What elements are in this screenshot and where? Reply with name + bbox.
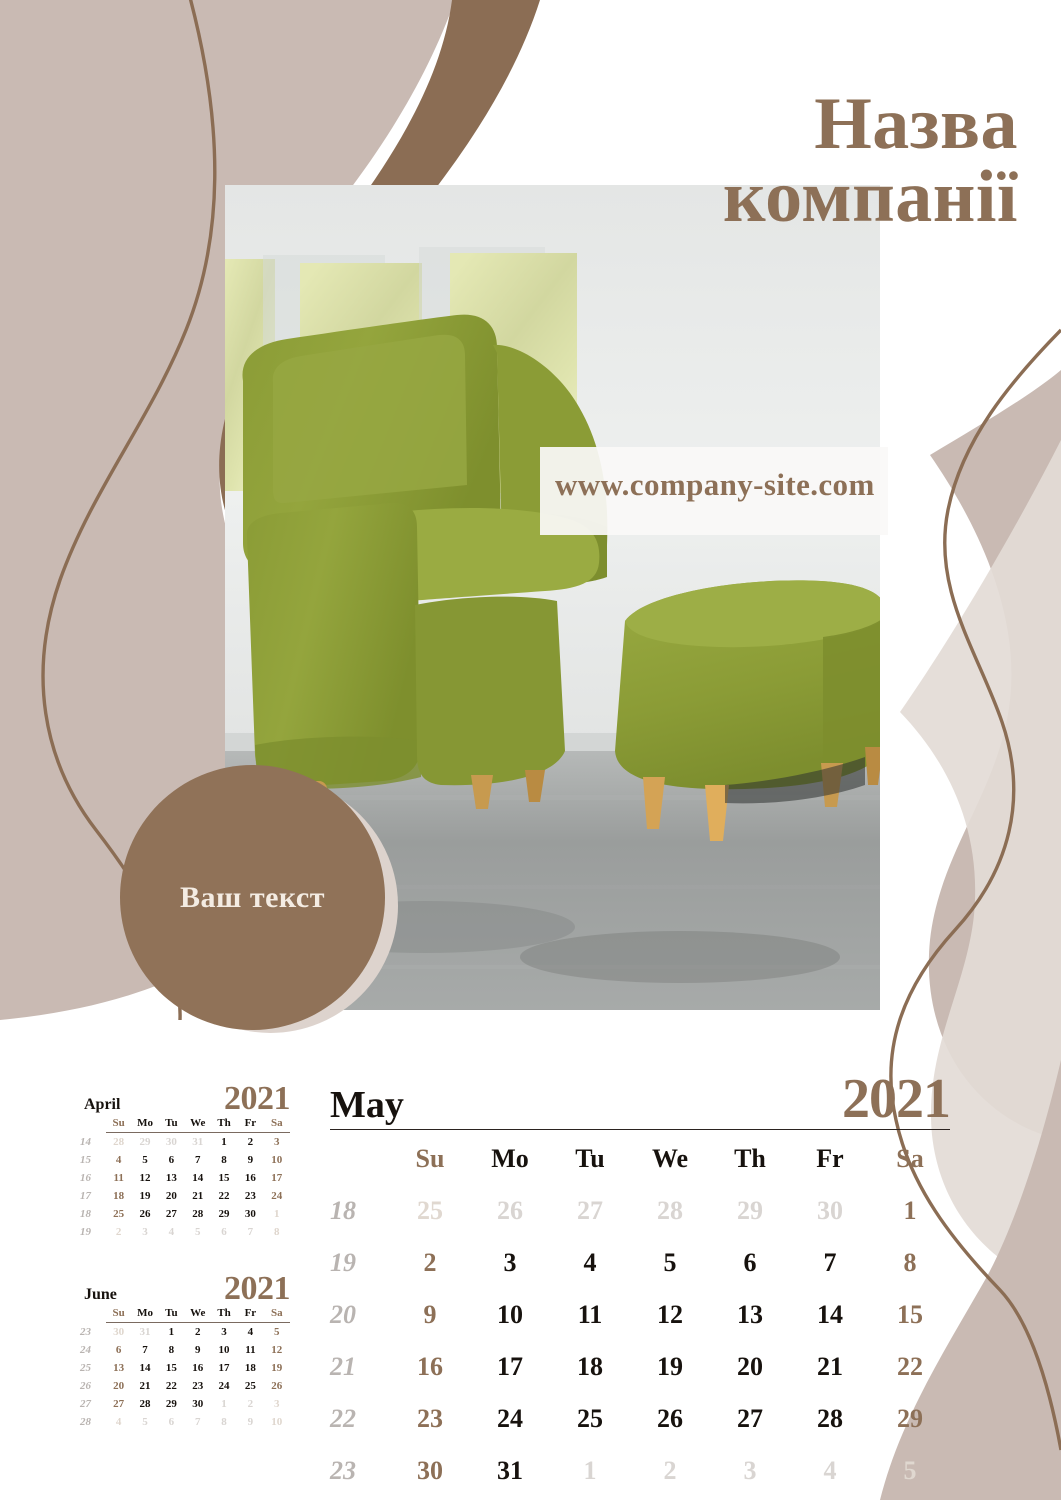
mini-week-number: 17: [78, 1187, 106, 1205]
mini-dow-tu: Tu: [158, 1304, 184, 1323]
mini-weeknum-header: [78, 1304, 106, 1323]
mini-day-cell[interactable]: 7: [132, 1341, 158, 1359]
mini-day-cell[interactable]: 6: [158, 1151, 184, 1169]
mini-day-cell[interactable]: 13: [158, 1169, 184, 1187]
mini-calendar-april: April 2021 Su Mo Tu We Th Fr Sa 14282930…: [78, 1078, 290, 1241]
main-day-cell[interactable]: 27: [550, 1185, 630, 1237]
mini-day-cell[interactable]: 25: [106, 1205, 132, 1223]
main-day-cell[interactable]: 9: [390, 1289, 470, 1341]
main-day-cell[interactable]: 4: [790, 1445, 870, 1497]
armchair: [236, 315, 608, 811]
main-day-cell[interactable]: 27: [710, 1393, 790, 1445]
mini-day-cell[interactable]: 31: [185, 1133, 211, 1152]
table-row: 2223242526272829: [330, 1393, 950, 1445]
mini-day-cell[interactable]: 2: [185, 1323, 211, 1342]
table-row: 209101112131415: [330, 1289, 950, 1341]
table-row: 2845678910: [78, 1413, 290, 1431]
mini-day-cell[interactable]: 30: [106, 1323, 132, 1342]
mini-year-june: 2021: [224, 1270, 290, 1308]
main-day-cell[interactable]: 10: [470, 1289, 550, 1341]
mini-day-cell[interactable]: 26: [264, 1377, 290, 1395]
mini-body-april: 1428293031123154567891016111213141516171…: [78, 1133, 290, 1242]
main-year: 2021: [842, 1067, 950, 1131]
main-day-cell[interactable]: 7: [790, 1237, 870, 1289]
mini-day-cell[interactable]: 23: [237, 1187, 263, 1205]
table-row: 182526272829301: [330, 1185, 950, 1237]
mini-weeknum-header: [78, 1114, 106, 1133]
mini-day-cell[interactable]: 10: [264, 1151, 290, 1169]
mini-day-cell[interactable]: 5: [264, 1323, 290, 1342]
mini-day-cell[interactable]: 4: [106, 1413, 132, 1431]
mini-day-cell[interactable]: 9: [237, 1413, 263, 1431]
mini-day-cell[interactable]: 1: [211, 1395, 237, 1413]
mini-day-cell[interactable]: 2: [237, 1395, 263, 1413]
main-dow-mo: Mo: [470, 1130, 550, 1186]
main-day-cell[interactable]: 31: [470, 1445, 550, 1497]
mini-day-cell[interactable]: 10: [211, 1341, 237, 1359]
table-row: 192345678: [330, 1237, 950, 1289]
main-week-number: 18: [330, 1185, 390, 1237]
mini-week-number: 25: [78, 1359, 106, 1377]
mini-calendar-june: June 2021 Su Mo Tu We Th Fr Sa 233031123…: [78, 1268, 290, 1431]
mini-day-cell[interactable]: 22: [211, 1187, 237, 1205]
mini-day-cell[interactable]: 15: [158, 1359, 184, 1377]
mini-day-cell[interactable]: 5: [132, 1413, 158, 1431]
mini-day-cell[interactable]: 17: [264, 1169, 290, 1187]
badge-label: Ваш текст: [180, 881, 325, 915]
mini-dow-we: We: [185, 1114, 211, 1133]
main-day-cell[interactable]: 5: [870, 1445, 950, 1497]
mini-day-cell[interactable]: 5: [185, 1223, 211, 1241]
mini-week-number: 28: [78, 1413, 106, 1431]
mini-day-cell[interactable]: 4: [106, 1151, 132, 1169]
mini-week-number: 26: [78, 1377, 106, 1395]
main-day-cell[interactable]: 25: [550, 1393, 630, 1445]
main-head-row: Su Mo Tu We Th Fr Sa: [330, 1130, 950, 1186]
mini-day-cell[interactable]: 30: [185, 1395, 211, 1413]
main-weeknum-header: [330, 1130, 390, 1186]
company-title-line1: Назва: [470, 88, 1018, 161]
mini-body-june: 2330311234524678910111225131415161718192…: [78, 1323, 290, 1432]
mini-day-cell[interactable]: 2: [237, 1133, 263, 1152]
mini-day-cell[interactable]: 28: [185, 1205, 211, 1223]
main-day-cell[interactable]: 19: [630, 1341, 710, 1393]
mini-day-cell[interactable]: 20: [106, 1377, 132, 1395]
main-day-cell[interactable]: 29: [870, 1393, 950, 1445]
mini-day-cell[interactable]: 9: [237, 1151, 263, 1169]
mini-day-cell[interactable]: 6: [211, 1223, 237, 1241]
table-row: 2727282930123: [78, 1395, 290, 1413]
main-day-cell[interactable]: 23: [390, 1393, 470, 1445]
table-row: 1545678910: [78, 1151, 290, 1169]
mini-day-cell[interactable]: 6: [158, 1413, 184, 1431]
main-day-cell[interactable]: 28: [790, 1393, 870, 1445]
table-row: 2620212223242526: [78, 1377, 290, 1395]
mini-day-cell[interactable]: 12: [264, 1341, 290, 1359]
mini-day-cell[interactable]: 29: [132, 1133, 158, 1152]
mini-month-name-june: June: [84, 1286, 117, 1304]
main-day-cell[interactable]: 24: [470, 1393, 550, 1445]
mini-day-cell[interactable]: 16: [185, 1359, 211, 1377]
mini-day-cell[interactable]: 11: [237, 1341, 263, 1359]
main-day-cell[interactable]: 13: [710, 1289, 790, 1341]
main-month-name: May: [330, 1083, 404, 1127]
main-day-cell[interactable]: 12: [630, 1289, 710, 1341]
mini-dow-su: Su: [106, 1114, 132, 1133]
mini-day-cell[interactable]: 17: [211, 1359, 237, 1377]
main-day-cell[interactable]: 20: [710, 1341, 790, 1393]
main-calendar-header: May 2021: [330, 1073, 950, 1129]
mini-week-number: 15: [78, 1151, 106, 1169]
main-day-cell[interactable]: 16: [390, 1341, 470, 1393]
website-url[interactable]: www.company-site.com: [555, 467, 1025, 503]
main-dow-fr: Fr: [790, 1130, 870, 1186]
mini-week-number: 14: [78, 1133, 106, 1152]
mini-day-cell[interactable]: 21: [132, 1377, 158, 1395]
main-week-number: 23: [330, 1445, 390, 1497]
mini-day-cell[interactable]: 25: [237, 1377, 263, 1395]
mini-day-cell[interactable]: 1: [211, 1133, 237, 1152]
main-day-cell[interactable]: 11: [550, 1289, 630, 1341]
mini-day-cell[interactable]: 30: [237, 1205, 263, 1223]
mini-dow-tu: Tu: [158, 1114, 184, 1133]
main-dow-we: We: [630, 1130, 710, 1186]
mini-day-cell[interactable]: 28: [132, 1395, 158, 1413]
mini-week-number: 18: [78, 1205, 106, 1223]
mini-dow-su: Su: [106, 1304, 132, 1323]
table-row: 246789101112: [78, 1341, 290, 1359]
mini-day-cell[interactable]: 27: [158, 1205, 184, 1223]
main-day-cell[interactable]: 2: [630, 1445, 710, 1497]
mini-day-cell[interactable]: 5: [132, 1151, 158, 1169]
main-day-cell[interactable]: 25: [390, 1185, 470, 1237]
company-title: Назва компанії: [470, 88, 1018, 235]
mini-day-cell[interactable]: 31: [132, 1323, 158, 1342]
mini-day-cell[interactable]: 18: [237, 1359, 263, 1377]
main-calendar-may: May 2021 Su Mo Tu We Th Fr Sa 1825262728…: [330, 1073, 950, 1497]
mini-grid-june: Su Mo Tu We Th Fr Sa 2330311234524678910…: [78, 1304, 290, 1431]
table-row: 1718192021222324: [78, 1187, 290, 1205]
mini-week-number: 23: [78, 1323, 106, 1342]
main-day-cell[interactable]: 30: [790, 1185, 870, 1237]
mini-day-cell[interactable]: 14: [185, 1169, 211, 1187]
main-day-cell[interactable]: 28: [630, 1185, 710, 1237]
company-title-line2: компанії: [470, 161, 1018, 234]
mini-day-cell[interactable]: 27: [106, 1395, 132, 1413]
mini-day-cell[interactable]: 28: [106, 1133, 132, 1152]
mini-day-cell[interactable]: 4: [237, 1323, 263, 1342]
mini-week-number: 27: [78, 1395, 106, 1413]
mini-day-cell[interactable]: 29: [158, 1395, 184, 1413]
mini-day-cell[interactable]: 8: [158, 1341, 184, 1359]
mini-header-june: June 2021: [78, 1268, 290, 1304]
main-day-cell[interactable]: 3: [470, 1237, 550, 1289]
main-day-cell[interactable]: 29: [710, 1185, 790, 1237]
mini-header-april: April 2021: [78, 1078, 290, 1114]
table-row: 1611121314151617: [78, 1169, 290, 1187]
calendar-page: Назва компанії www.company-site.com Ваш …: [0, 0, 1061, 1500]
table-row: 1428293031123: [78, 1133, 290, 1152]
mini-day-cell[interactable]: 6: [106, 1341, 132, 1359]
table-row: 23303112345: [78, 1323, 290, 1342]
mini-day-cell[interactable]: 8: [211, 1151, 237, 1169]
main-week-number: 19: [330, 1237, 390, 1289]
mini-year-april: 2021: [224, 1080, 290, 1118]
mini-week-number: 19: [78, 1223, 106, 1241]
main-day-cell[interactable]: 18: [550, 1341, 630, 1393]
main-day-cell[interactable]: 17: [470, 1341, 550, 1393]
mini-week-number: 24: [78, 1341, 106, 1359]
main-day-cell[interactable]: 14: [790, 1289, 870, 1341]
main-week-number: 20: [330, 1289, 390, 1341]
mini-day-cell[interactable]: 14: [132, 1359, 158, 1377]
mini-day-cell[interactable]: 22: [158, 1377, 184, 1395]
mini-dow-mo: Mo: [132, 1304, 158, 1323]
mini-day-cell[interactable]: 4: [158, 1223, 184, 1241]
mini-week-number: 16: [78, 1169, 106, 1187]
mini-day-cell[interactable]: 3: [264, 1133, 290, 1152]
mini-day-cell[interactable]: 19: [132, 1187, 158, 1205]
mini-day-cell[interactable]: 10: [264, 1413, 290, 1431]
mini-day-cell[interactable]: 29: [211, 1205, 237, 1223]
main-dow-su: Su: [390, 1130, 470, 1186]
main-day-cell[interactable]: 30: [390, 1445, 470, 1497]
mini-dow-we: We: [185, 1304, 211, 1323]
mini-grid-april: Su Mo Tu We Th Fr Sa 1428293031123154567…: [78, 1114, 290, 1241]
main-day-cell[interactable]: 6: [710, 1237, 790, 1289]
mini-day-cell[interactable]: 24: [264, 1187, 290, 1205]
mini-month-name-april: April: [84, 1096, 120, 1114]
main-day-cell[interactable]: 3: [710, 1445, 790, 1497]
mini-day-cell[interactable]: 12: [132, 1169, 158, 1187]
table-row: Su Mo Tu We Th Fr Sa: [330, 1130, 950, 1186]
mini-day-cell[interactable]: 18: [106, 1187, 132, 1205]
table-row: 192345678: [78, 1223, 290, 1241]
table-row: 2513141516171819: [78, 1359, 290, 1377]
main-dow-sa: Sa: [870, 1130, 950, 1186]
mini-day-cell[interactable]: 8: [264, 1223, 290, 1241]
main-week-number: 21: [330, 1341, 390, 1393]
mini-day-cell[interactable]: 16: [237, 1169, 263, 1187]
main-day-cell[interactable]: 8: [870, 1237, 950, 1289]
mini-day-cell[interactable]: 19: [264, 1359, 290, 1377]
mini-day-cell[interactable]: 3: [264, 1395, 290, 1413]
mini-day-cell[interactable]: 7: [185, 1413, 211, 1431]
table-row: 23303112345: [330, 1445, 950, 1497]
mini-day-cell[interactable]: 9: [185, 1341, 211, 1359]
mini-day-cell[interactable]: 3: [132, 1223, 158, 1241]
main-week-number: 22: [330, 1393, 390, 1445]
main-day-cell[interactable]: 21: [790, 1341, 870, 1393]
main-day-cell[interactable]: 26: [470, 1185, 550, 1237]
main-day-cell[interactable]: 22: [870, 1341, 950, 1393]
mini-day-cell[interactable]: 26: [132, 1205, 158, 1223]
mini-day-cell[interactable]: 20: [158, 1187, 184, 1205]
main-day-cell[interactable]: 2: [390, 1237, 470, 1289]
main-dow-tu: Tu: [550, 1130, 630, 1186]
table-row: 182526272829301: [78, 1205, 290, 1223]
main-body: 1825262728293011923456782091011121314152…: [330, 1185, 950, 1497]
mini-day-cell[interactable]: 15: [211, 1169, 237, 1187]
mini-day-cell[interactable]: 7: [237, 1223, 263, 1241]
mini-day-cell[interactable]: 8: [211, 1413, 237, 1431]
main-day-cell[interactable]: 4: [550, 1237, 630, 1289]
mini-day-cell[interactable]: 7: [185, 1151, 211, 1169]
main-day-cell[interactable]: 1: [870, 1185, 950, 1237]
main-day-cell[interactable]: 1: [550, 1445, 630, 1497]
main-day-cell[interactable]: 26: [630, 1393, 710, 1445]
mini-dow-mo: Mo: [132, 1114, 158, 1133]
mini-day-cell[interactable]: 11: [106, 1169, 132, 1187]
main-grid: Su Mo Tu We Th Fr Sa 1825262728293011923…: [330, 1129, 950, 1497]
mini-day-cell[interactable]: 1: [264, 1205, 290, 1223]
mini-day-cell[interactable]: 23: [185, 1377, 211, 1395]
mini-day-cell[interactable]: 30: [158, 1133, 184, 1152]
mini-day-cell[interactable]: 21: [185, 1187, 211, 1205]
table-row: 2116171819202122: [330, 1341, 950, 1393]
your-text-badge[interactable]: Ваш текст: [120, 765, 385, 1030]
main-day-cell[interactable]: 15: [870, 1289, 950, 1341]
mini-day-cell[interactable]: 2: [106, 1223, 132, 1241]
mini-day-cell[interactable]: 3: [211, 1323, 237, 1342]
mini-day-cell[interactable]: 24: [211, 1377, 237, 1395]
mini-day-cell[interactable]: 1: [158, 1323, 184, 1342]
main-day-cell[interactable]: 5: [630, 1237, 710, 1289]
mini-day-cell[interactable]: 13: [106, 1359, 132, 1377]
main-dow-th: Th: [710, 1130, 790, 1186]
